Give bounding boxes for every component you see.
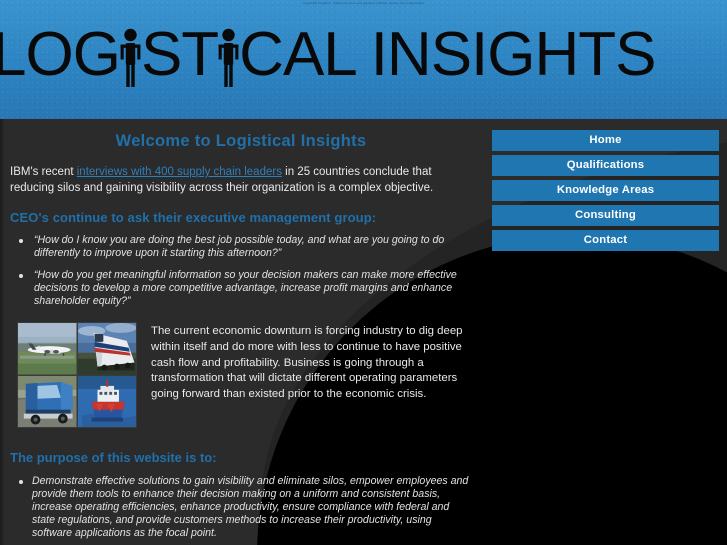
supply-chain-leaders-link[interactable]: interviews with 400 supply chain leaders — [77, 166, 282, 178]
purpose-section-heading: The purpose of this website is to: — [10, 450, 472, 465]
page-title: Welcome to Logistical Insights — [10, 132, 472, 151]
nav-item-knowledge-areas[interactable]: Knowledge Areas — [492, 180, 719, 201]
page-root: Logistical Insights - Reducing silos and… — [0, 0, 727, 545]
train-photo — [78, 323, 137, 375]
logo-text-part-3: CAL INSIGHTS — [239, 24, 655, 86]
nav-item-contact[interactable]: Contact — [492, 230, 719, 251]
person-figure-icon-2 — [218, 24, 239, 86]
intro-paragraph: IBM's recent interviews with 400 supply … — [10, 165, 472, 196]
photo-and-text-row: The current economic downturn is forcing… — [10, 322, 472, 428]
logo-text-part-2: ST — [141, 24, 218, 86]
economy-paragraph: The current economic downturn is forcing… — [151, 322, 472, 428]
nav-item-qualifications[interactable]: Qualifications — [492, 155, 719, 176]
transport-photo-grid — [17, 322, 137, 428]
logo-text-part-1: LOG — [0, 24, 120, 86]
nav-item-home[interactable]: Home — [492, 130, 719, 151]
list-item: “How do I know you are doing the best jo… — [32, 234, 472, 260]
ceo-quotes-list: “How do I know you are doing the best jo… — [10, 234, 472, 308]
banner-tiny-text: Logistical Insights - Reducing silos and… — [0, 1, 727, 5]
intro-text-before-link: IBM's recent — [10, 166, 77, 178]
purpose-list: Demonstrate effective solutions to gain … — [10, 475, 472, 545]
main-content: Welcome to Logistical Insights IBM's rec… — [0, 119, 484, 545]
main-navigation: Home Qualifications Knowledge Areas Cons… — [492, 130, 719, 255]
site-banner: Logistical Insights - Reducing silos and… — [0, 0, 727, 119]
ceo-section-heading: CEO's continue to ask their executive ma… — [10, 210, 472, 225]
list-item: “How do you get meaningful information s… — [32, 269, 472, 308]
ship-photo — [78, 376, 137, 428]
airplane-photo — [18, 323, 77, 375]
nav-item-consulting[interactable]: Consulting — [492, 205, 719, 226]
site-logo[interactable]: LOG ST — [0, 22, 656, 86]
truck-photo — [18, 376, 77, 428]
list-item: Demonstrate effective solutions to gain … — [32, 475, 472, 540]
person-figure-icon — [120, 24, 141, 86]
